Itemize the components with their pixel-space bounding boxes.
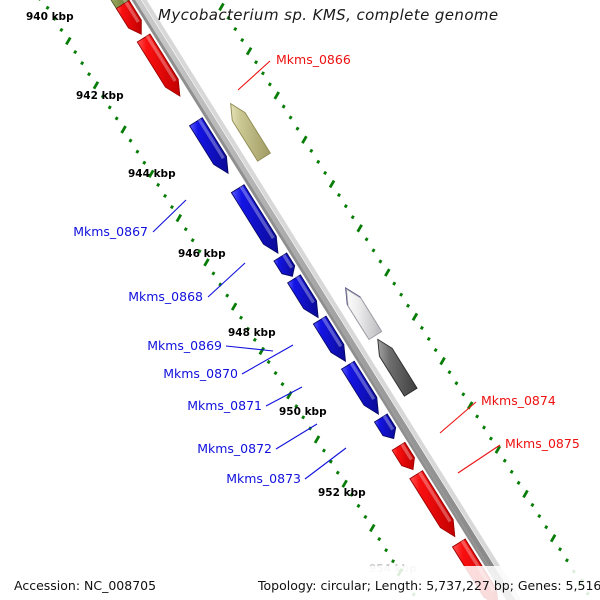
gene-label: Mkms_0871 <box>187 398 262 413</box>
genome-map-svg[interactable]: Mkms_0866Mkms_0867Mkms_0868Mkms_0869Mkms… <box>0 0 600 600</box>
leader-line <box>238 61 270 90</box>
leader-line <box>208 263 245 297</box>
coordinate-label: 948 kbp <box>228 327 276 339</box>
leader-line <box>458 445 500 473</box>
gene-label: Mkms_0872 <box>197 441 272 456</box>
leader-line <box>276 424 317 449</box>
gene-label: Mkms_0873 <box>226 471 301 486</box>
leader-line <box>242 345 293 374</box>
page-title: Mycobacterium sp. KMS, complete genome <box>158 6 499 24</box>
coordinate-label: 942 kbp <box>76 90 124 102</box>
coordinate-label: 950 kbp <box>279 406 327 418</box>
genome-stats-text: Topology: circular; Length: 5,737,227 bp… <box>258 578 600 593</box>
leader-line <box>440 402 476 433</box>
leader-line <box>266 387 302 406</box>
gene-label: Mkms_0875 <box>505 436 580 451</box>
gene-label: Mkms_0868 <box>128 289 203 304</box>
gene-label: Mkms_0866 <box>276 52 351 67</box>
status-bar: Accession: NC_008705 Topology: circular;… <box>0 566 600 600</box>
coordinate-label: 940 kbp <box>26 11 74 23</box>
accession-text: Accession: NC_008705 <box>14 578 156 593</box>
leader-line <box>305 448 346 479</box>
gene-label: Mkms_0870 <box>163 366 238 381</box>
coordinate-labels: 940 kbp942 kbp944 kbp946 kbp948 kbp950 k… <box>26 11 417 575</box>
gene-labels[interactable]: Mkms_0866Mkms_0867Mkms_0868Mkms_0869Mkms… <box>73 52 580 486</box>
gene-label: Mkms_0867 <box>73 224 148 239</box>
leader-line <box>226 346 273 351</box>
genome-browser-canvas: Mkms_0866Mkms_0867Mkms_0868Mkms_0869Mkms… <box>0 0 600 600</box>
coordinate-label: 946 kbp <box>178 248 226 260</box>
gene-label: Mkms_0874 <box>481 393 556 408</box>
coordinate-label: 952 kbp <box>318 487 366 499</box>
coordinate-label: 944 kbp <box>128 168 176 180</box>
gene-label: Mkms_0869 <box>147 338 222 353</box>
